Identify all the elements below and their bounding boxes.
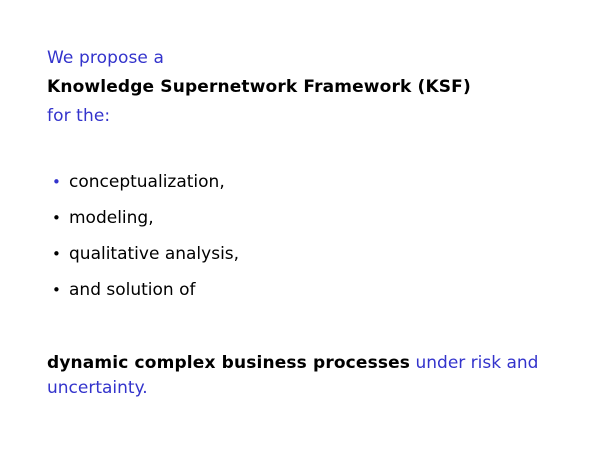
slide-content: We propose a Knowledge Supernetwork Fram… xyxy=(47,44,567,418)
bullet-dot-icon: • xyxy=(52,236,61,272)
bullet-dot-icon: • xyxy=(52,272,61,308)
list-item: • qualitative analysis, xyxy=(52,236,567,272)
intro-line-3: for the: xyxy=(47,102,567,131)
bullet-list: • conceptualization, • modeling, • quali… xyxy=(47,164,567,308)
bullet-dot-icon: • xyxy=(52,200,61,236)
list-item: • modeling, xyxy=(52,200,567,236)
spacer-below-bullets xyxy=(47,308,567,334)
list-item-label: conceptualization, xyxy=(69,172,225,192)
closing-paragraph: dynamic complex business processes under… xyxy=(47,351,547,401)
intro-block: We propose a Knowledge Supernetwork Fram… xyxy=(47,44,567,131)
list-item: • and solution of xyxy=(52,272,567,308)
list-item: • conceptualization, xyxy=(52,164,567,200)
list-item-label: and solution of xyxy=(69,280,196,300)
list-item-label: qualitative analysis, xyxy=(69,244,239,264)
closing-emphasis: dynamic complex business processes xyxy=(47,353,410,373)
intro-line-1: We propose a xyxy=(47,44,567,73)
slide-canvas: We propose a Knowledge Supernetwork Fram… xyxy=(0,0,600,450)
bullet-dot-icon: • xyxy=(52,164,61,200)
list-item-label: modeling, xyxy=(69,208,154,228)
spacer-above-bullets xyxy=(47,131,567,164)
framework-title: Knowledge Supernetwork Framework (KSF) xyxy=(47,73,567,102)
